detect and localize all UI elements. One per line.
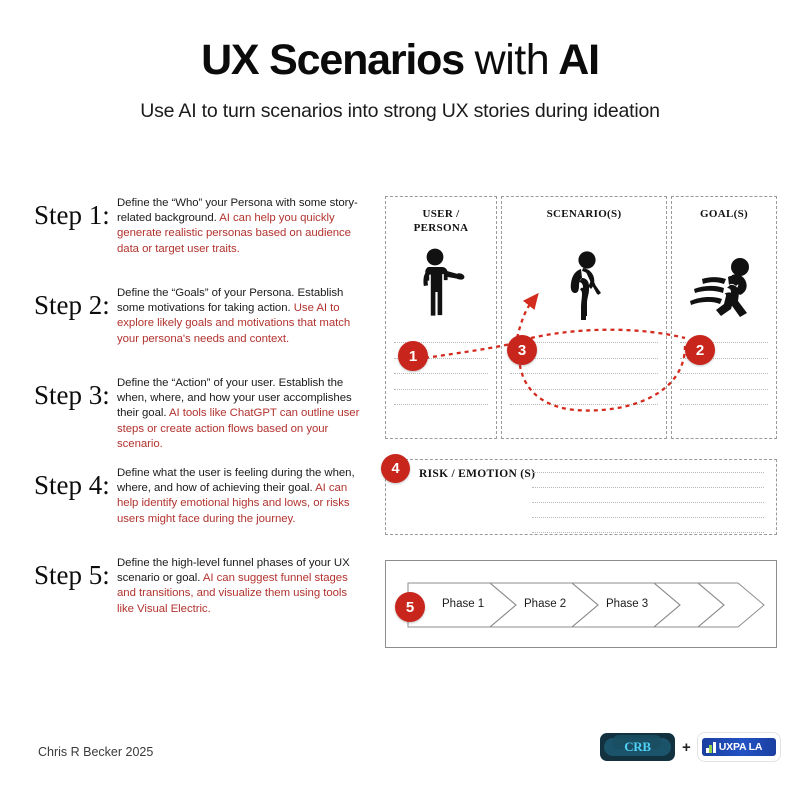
- funnel-phase-label-3: Phase 3: [606, 598, 648, 610]
- step-label-1: Step 1:: [34, 200, 110, 231]
- panel-scenarios[interactable]: SCENARIO(S): [501, 196, 667, 439]
- step-body-3: Define the “Action” of your user. Establ…: [117, 376, 364, 452]
- scenario-canvas-diagram: USER / PERSONA: [385, 196, 777, 441]
- note-line: [532, 517, 764, 519]
- panel-user-persona[interactable]: USER / PERSONA: [385, 196, 497, 439]
- chevron-4: [654, 583, 724, 627]
- step-label-5: Step 5:: [34, 560, 110, 591]
- note-lines-risk-emotion: [532, 472, 764, 547]
- footer-logos: CRB + UXPA LA: [600, 733, 780, 761]
- person-pointing-icon: [386, 245, 496, 325]
- bar-chart-icon: [706, 742, 716, 753]
- uxpa-la-logo-inner: UXPA LA: [702, 738, 776, 756]
- step-body-1: Define the “Who” your Persona with some …: [117, 196, 364, 257]
- diagram-panel-row: USER / PERSONA: [385, 196, 777, 441]
- funnel-phase-label-1: Phase 1: [442, 598, 484, 610]
- step-body-4: Define what the user is feeling during t…: [117, 466, 364, 527]
- panel-risk-emotion[interactable]: RISK / EMOTION (S): [385, 459, 777, 535]
- page-title-part-2: with: [475, 36, 549, 84]
- step-body-2: Define the “Goals” of your Persona. Esta…: [117, 286, 364, 347]
- panel-title-risk-emotion: RISK / EMOTION (S): [419, 468, 535, 480]
- page-title-part-1: UX Scenarios: [201, 36, 464, 84]
- note-line: [532, 487, 764, 489]
- panel-title-goals: GOAL(S): [672, 207, 776, 221]
- step-label-3: Step 3:: [34, 380, 110, 411]
- panel-title-user-persona: USER / PERSONA: [386, 207, 496, 235]
- note-line: [510, 389, 658, 391]
- author-credit: Chris R Becker 2025: [38, 745, 153, 759]
- crb-logo-text: CRB: [624, 739, 651, 755]
- marker-number-4[interactable]: 4: [381, 454, 410, 483]
- person-thinking-icon: [502, 245, 666, 325]
- person-running-icon: [672, 245, 776, 325]
- page-title-part-3: AI: [558, 36, 599, 84]
- step-item-2: Step 2: Define the “Goals” of your Perso…: [34, 286, 364, 376]
- infographic-canvas: UX Scenarios with AI Use AI to turn scen…: [0, 0, 800, 800]
- panel-title-scenarios: SCENARIO(S): [502, 207, 666, 221]
- note-line: [394, 389, 488, 391]
- steps-list: Step 1: Define the “Who” your Persona wi…: [34, 196, 364, 646]
- note-line: [680, 373, 768, 375]
- note-line: [532, 532, 764, 534]
- step-label-4: Step 4:: [34, 470, 110, 501]
- page-title: UX Scenarios with AI: [0, 38, 800, 83]
- note-line: [510, 404, 658, 406]
- uxpa-la-logo-text: UXPA LA: [719, 741, 763, 753]
- chevron-5: [698, 583, 764, 627]
- note-line: [394, 404, 488, 406]
- uxpa-la-logo: UXPA LA: [698, 733, 780, 761]
- note-line: [532, 502, 764, 504]
- note-line: [394, 373, 488, 375]
- page-subtitle: Use AI to turn scenarios into strong UX …: [0, 100, 800, 123]
- panel-funnel[interactable]: Phase 1 Phase 2 Phase 3: [385, 560, 777, 648]
- marker-number-3[interactable]: 3: [507, 335, 537, 365]
- step-item-5: Step 5: Define the high-level funnel pha…: [34, 556, 364, 646]
- funnel-phase-label-2: Phase 2: [524, 598, 566, 610]
- marker-number-5[interactable]: 5: [395, 592, 425, 622]
- plus-icon: +: [682, 739, 691, 756]
- crb-logo: CRB: [600, 733, 675, 761]
- marker-number-2[interactable]: 2: [685, 335, 715, 365]
- step-item-4: Step 4: Define what the user is feeling …: [34, 466, 364, 556]
- note-line: [510, 373, 658, 375]
- note-line: [532, 472, 764, 474]
- step-body-5: Define the high-level funnel phases of y…: [117, 556, 364, 617]
- step-item-3: Step 3: Define the “Action” of your user…: [34, 376, 364, 466]
- step-label-2: Step 2:: [34, 290, 110, 321]
- panel-goals[interactable]: GOAL(S): [671, 196, 777, 439]
- step-item-1: Step 1: Define the “Who” your Persona wi…: [34, 196, 364, 286]
- marker-number-1[interactable]: 1: [398, 341, 428, 371]
- note-line: [680, 389, 768, 391]
- note-line: [680, 404, 768, 406]
